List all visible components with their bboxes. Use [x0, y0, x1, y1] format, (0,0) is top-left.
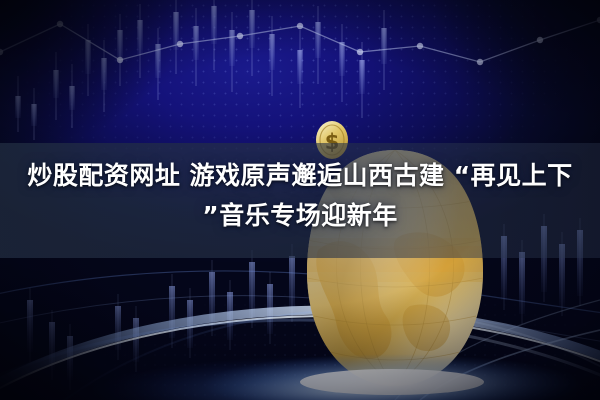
page-title: 炒股配资网址 游戏原声邂逅山西古建 “再见上下 ”音乐专场迎新年 — [0, 156, 600, 236]
page-title-line1: 炒股配资网址 游戏原声邂逅山西古建 “再见上下 — [27, 161, 572, 190]
page-title-line2: ”音乐专场迎新年 — [0, 196, 600, 236]
banner-image: $ $ — [0, 0, 600, 400]
